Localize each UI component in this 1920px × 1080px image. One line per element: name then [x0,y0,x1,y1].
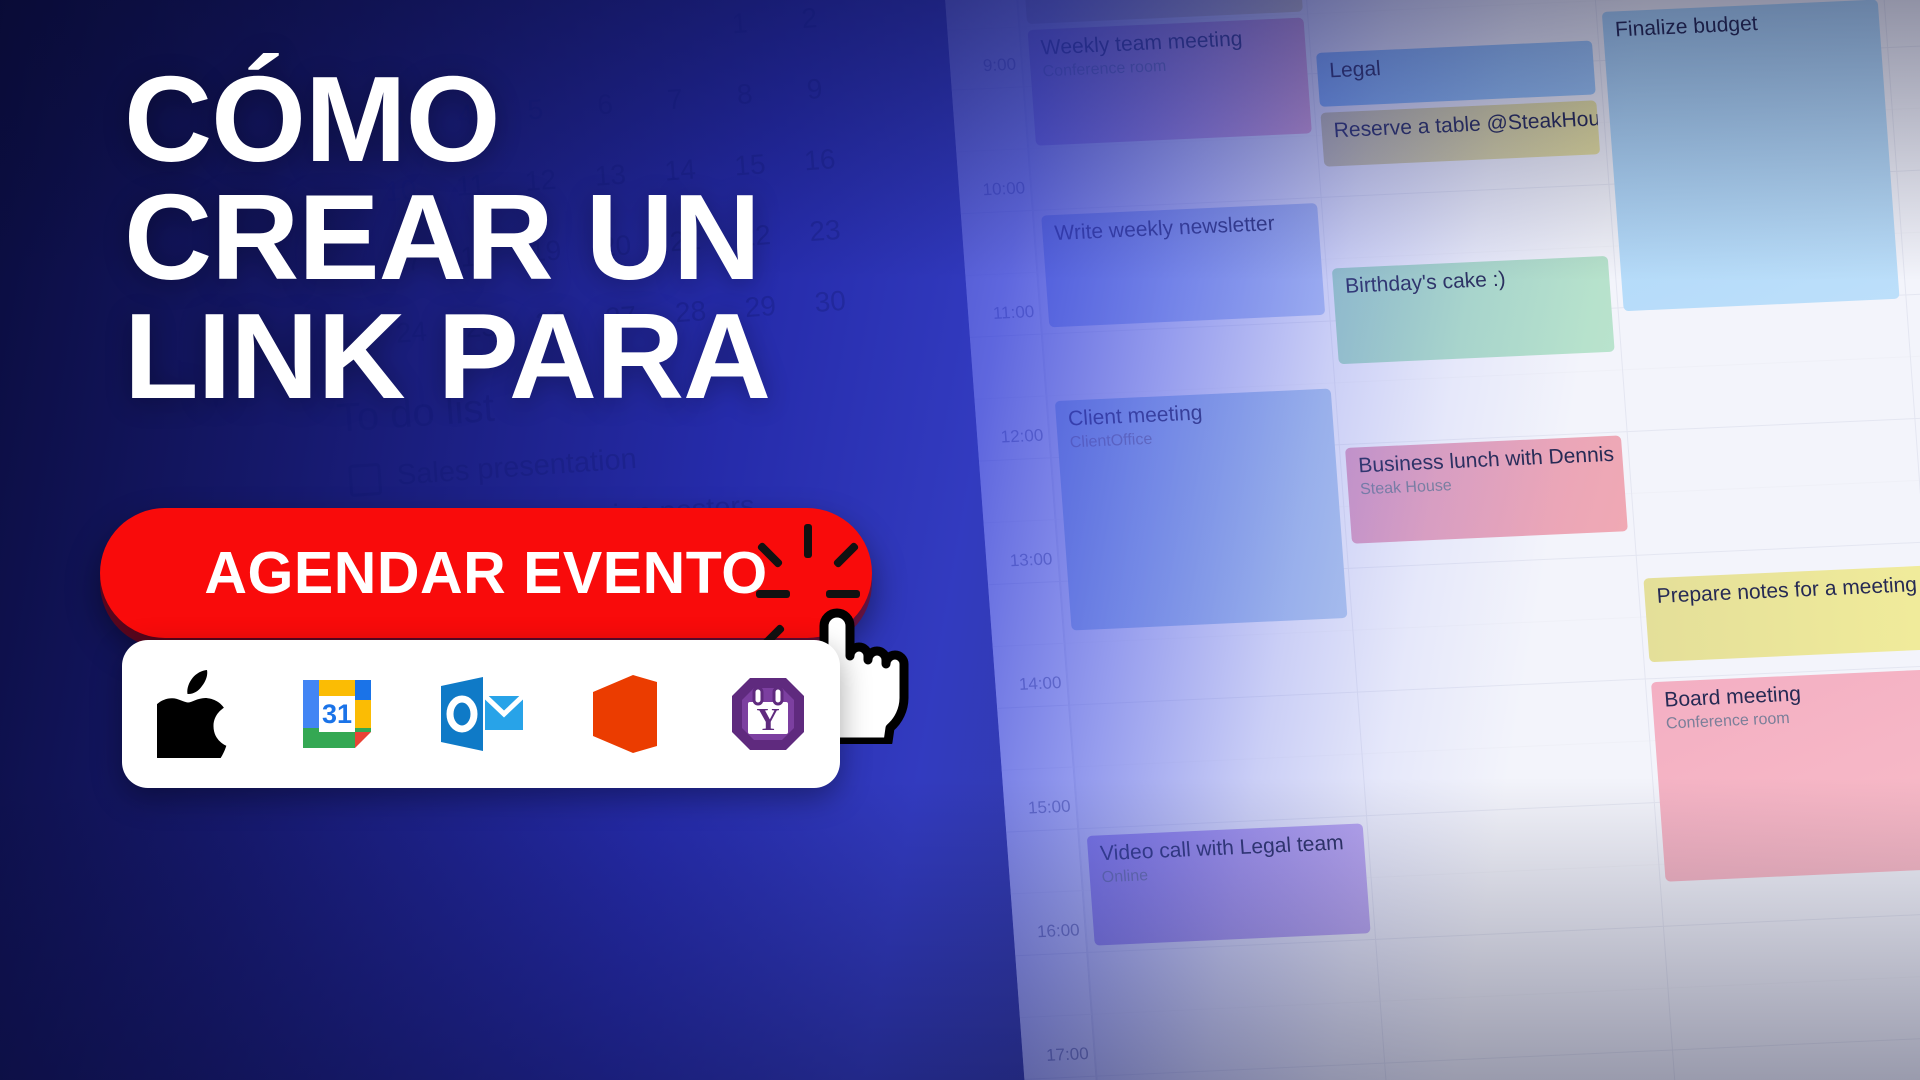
headline-line-3: LINK PARA [124,297,1044,415]
event-title: Birthday's cake :) [1344,263,1598,299]
calendar-event[interactable]: Business lunch with Dennis Steak House [1345,435,1628,543]
calendar-event[interactable]: Finalize budget [1602,0,1900,311]
office-logo[interactable] [579,668,671,760]
apple-calendar-logo[interactable] [148,668,240,760]
thumbnail-canvas: 9:00 10:00 11:00 12:00 13:00 14:00 15:00… [0,0,1920,1080]
calendar-screenshot: 9:00 10:00 11:00 12:00 13:00 14:00 15:00… [940,0,1920,1080]
event-title: Prepare notes for a meeting [1036,0,1290,3]
calendar-event[interactable]: Weekly team meeting Conference room [1028,18,1312,146]
calendar-event[interactable]: Prepare notes for a meeting [1643,565,1920,662]
time-label: 16:00 [1019,920,1080,943]
event-title: Write weekly newsletter [1054,211,1308,247]
headline-line-1: CÓMO [124,60,1044,178]
calendar-event[interactable]: Write weekly newsletter [1041,203,1325,327]
time-label: 12:00 [983,426,1044,449]
calendar-event[interactable]: Birthday's cake :) [1332,256,1615,364]
calendar-event[interactable]: Board meeting Conference room [1651,669,1920,882]
calendar-event[interactable]: Video call with Legal team Online [1087,823,1371,945]
time-label: 17:00 [1028,1044,1089,1067]
headline-line-2: CREAR UN [124,178,1044,296]
calendar-event[interactable]: Reserve a table @SteakHouse [1320,100,1600,166]
todo-item: Sales presentation [340,420,961,496]
event-title: Finalize budget [1614,7,1868,43]
time-label: 15:00 [1010,797,1071,820]
day-number: 1 [704,5,776,42]
calendar-event[interactable]: Legal [1316,40,1596,106]
calendar-apps-logo-bar: 31 Y [122,640,840,788]
calendar-event[interactable]: Client meeting ClientOffice [1055,389,1348,631]
outlook-logo[interactable] [435,668,527,760]
page-title: CÓMO CREAR UN LINK PARA [124,60,1044,415]
svg-text:31: 31 [322,699,352,729]
schedule-event-button[interactable]: AGENDAR EVENTO [100,508,872,638]
event-title: Prepare notes for a meeting [1656,573,1920,609]
event-title: Legal [1329,48,1583,84]
event-title: Reserve a table @SteakHouse [1333,108,1587,144]
google-calendar-logo[interactable]: 31 [291,668,383,760]
day-number: 2 [773,0,845,37]
yahoo-calendar-logo[interactable]: Y [722,668,814,760]
schedule-event-button-label: AGENDAR EVENTO [204,539,767,607]
time-label: 14:00 [1001,673,1062,696]
svg-text:Y: Y [757,701,780,737]
time-label: 13:00 [992,549,1053,572]
